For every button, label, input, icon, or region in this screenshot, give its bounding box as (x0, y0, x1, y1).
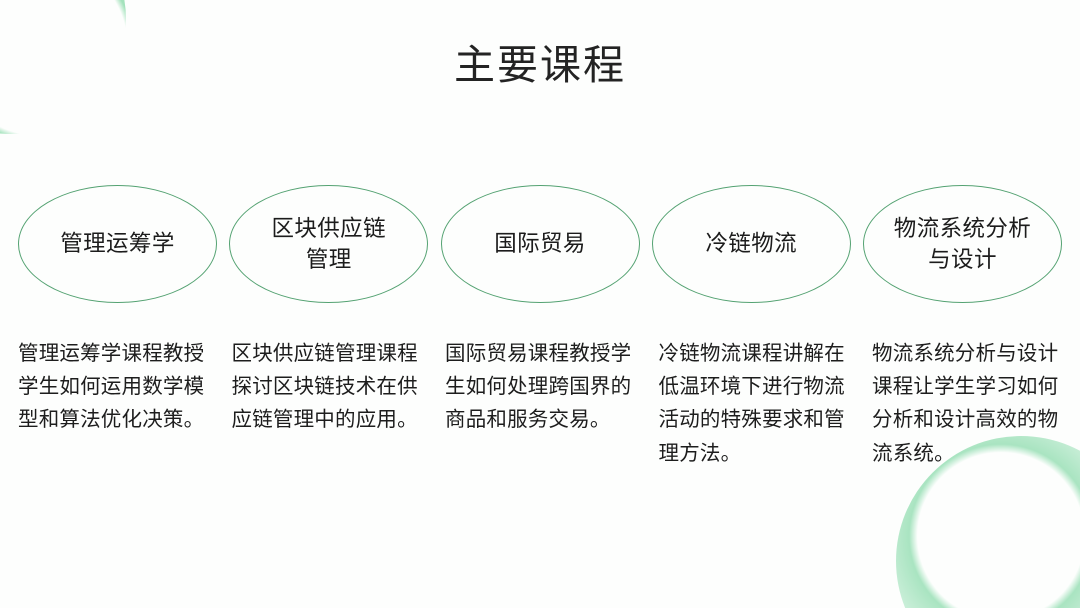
course-description-5: 物流系统分析与设计课程让学生学习如何分析和设计高效的物流系统。 (872, 337, 1065, 470)
course-ellipse-row: 管理运筹学 区块供应链 管理 国际贸易 冷链物流 物流系统分析 与设计 (18, 183, 1062, 305)
course-description-2: 区块供应链管理课程探讨区块链技术在供应链管理中的应用。 (232, 337, 425, 437)
course-ellipse-label-3: 国际贸易 (486, 228, 594, 259)
course-ellipse-3: 国际贸易 (441, 185, 640, 303)
course-ellipse-label-4: 冷链物流 (697, 228, 805, 259)
course-ellipse-5: 物流系统分析 与设计 (863, 185, 1062, 303)
course-ellipse-label-1: 管理运筹学 (52, 228, 183, 259)
course-ellipse-label-5: 物流系统分析 与设计 (886, 213, 1039, 275)
course-ellipse-4: 冷链物流 (652, 185, 851, 303)
course-description-row: 管理运筹学课程教授学生如何运用数学模型和算法优化决策。 区块供应链管理课程探讨区… (18, 337, 1065, 470)
course-description-4: 冷链物流课程讲解在低温环境下进行物流活动的特殊要求和管理方法。 (659, 337, 852, 470)
slide-canvas: 主要课程 管理运筹学 区块供应链 管理 国际贸易 冷链物流 物流系统分析 与设计… (0, 0, 1080, 608)
course-ellipse-1: 管理运筹学 (18, 185, 217, 303)
course-description-1: 管理运筹学课程教授学生如何运用数学模型和算法优化决策。 (18, 337, 211, 437)
course-ellipse-label-2: 区块供应链 管理 (263, 213, 394, 275)
course-description-3: 国际贸易课程教授学生如何处理跨国界的商品和服务交易。 (445, 337, 638, 437)
page-title: 主要课程 (0, 40, 1080, 91)
course-ellipse-2: 区块供应链 管理 (229, 185, 428, 303)
